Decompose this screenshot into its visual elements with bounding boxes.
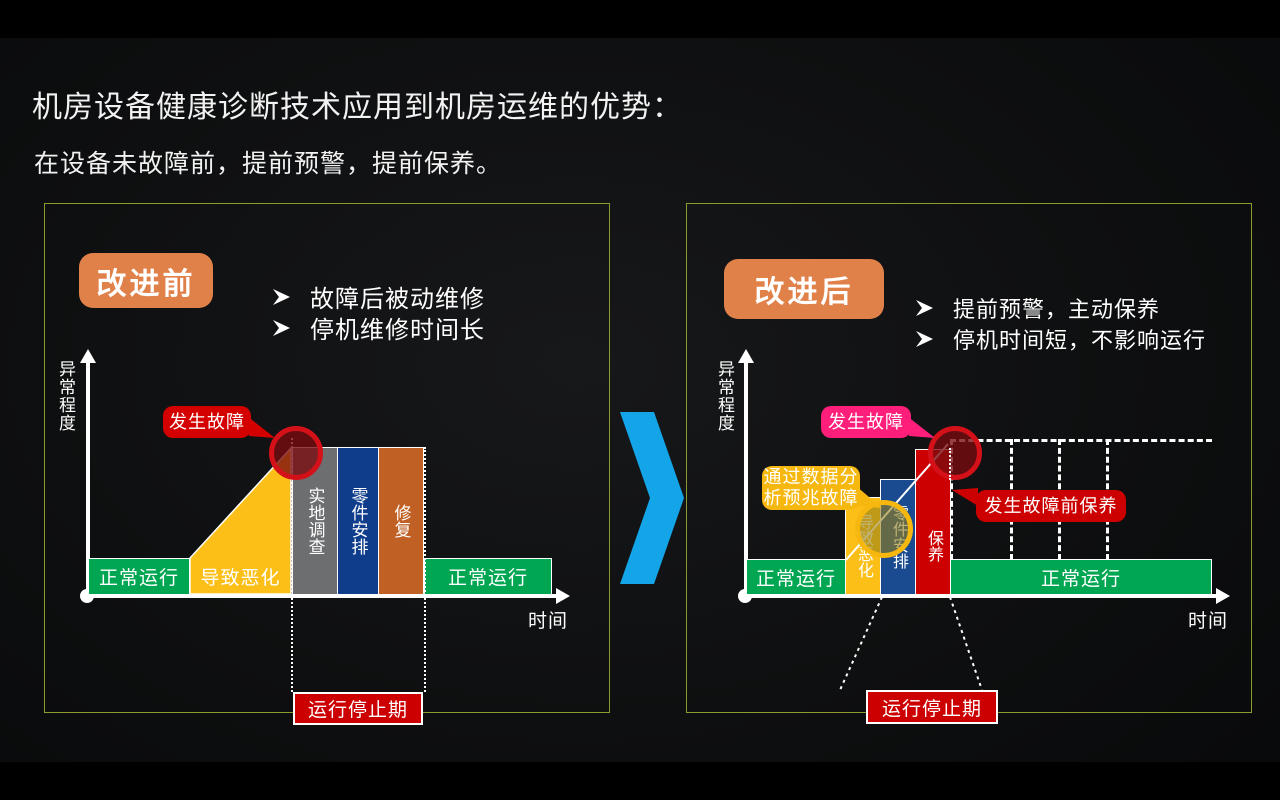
x-axis-label: 时间 [528,606,568,633]
segment-degrade-label-wrap: 导致恶化 [190,558,291,595]
letterbox-bottom [0,762,1280,800]
segment-normal-1: 正常运行 [88,558,190,595]
stop-period-box: 运行停止期 [293,692,423,725]
segment-parts: 零件安排 [337,447,379,595]
slide-canvas: 机房设备健康诊断技术应用到机房运维的优势： 在设备未故障前，提前预警，提前保养。… [0,0,1280,800]
fault-marker-circle [269,426,323,480]
segment-normal-2: 正常运行 [424,558,552,595]
chart-before: 异常程度 时间 正常运行 导致恶化 实地调查 [0,38,640,762]
y-axis-label: 异常程度 [716,360,733,432]
segment-label: 正常运行 [99,563,179,590]
x-axis-arrowhead [556,588,570,604]
callout-prediction: 通过数据分 析预兆故障 [762,466,860,510]
callout-fault-label: 发生故障 [169,412,245,433]
stop-period-label: 运行停止期 [882,694,982,721]
segment-normal-2: 正常运行 [950,559,1212,595]
callout-tail-icon [907,416,937,440]
letterbox-top [0,0,1280,38]
callout-prediction-line2: 析预兆故障 [764,488,859,509]
callout-maintain: 发生故障前保养 [976,490,1126,522]
segment-label: 零件安排 [346,487,371,555]
callout-fault: 发生故障 [163,406,251,438]
stop-period-box: 运行停止期 [866,690,998,724]
segment-label: 正常运行 [1041,564,1121,591]
segment-maintain: 保养 [915,496,951,595]
grid-top-line [950,439,1212,442]
y-axis-arrowhead [738,349,754,363]
x-axis-label: 时间 [1188,606,1228,633]
callout-fault-label: 发生故障 [828,412,904,433]
segment-label: 保养 [921,530,945,562]
callout-tail-icon [856,486,884,510]
y-axis-arrowhead [80,349,96,363]
x-axis-arrowhead [1216,588,1230,604]
callout-fault: 发生故障 [821,406,911,438]
callout-tail-icon [247,416,277,440]
callout-tail-icon [952,486,982,510]
segment-label: 正常运行 [448,563,528,590]
segment-normal-1: 正常运行 [746,559,846,595]
fault-drop-line [949,448,951,480]
segment-label: 正常运行 [756,564,836,591]
stop-period-leader-lines [830,595,990,695]
segment-label: 修复 [389,504,414,538]
segment-label: 导致恶化 [200,563,280,590]
chart-after: 异常程度 时间 正常运行 导致恶化 零件安排 [640,38,1280,762]
segment-repair: 修复 [378,447,424,595]
callout-maintain-label: 发生故障前保养 [985,496,1118,517]
segment-label: 实地调查 [303,487,328,555]
stop-period-label: 运行停止期 [308,695,408,722]
callout-prediction-line1: 通过数据分 [764,467,859,488]
downtime-marker-end [424,447,426,692]
slide-body: 机房设备健康诊断技术应用到机房运维的优势： 在设备未故障前，提前预警，提前保养。… [0,38,1280,762]
y-axis-label: 异常程度 [57,360,74,432]
